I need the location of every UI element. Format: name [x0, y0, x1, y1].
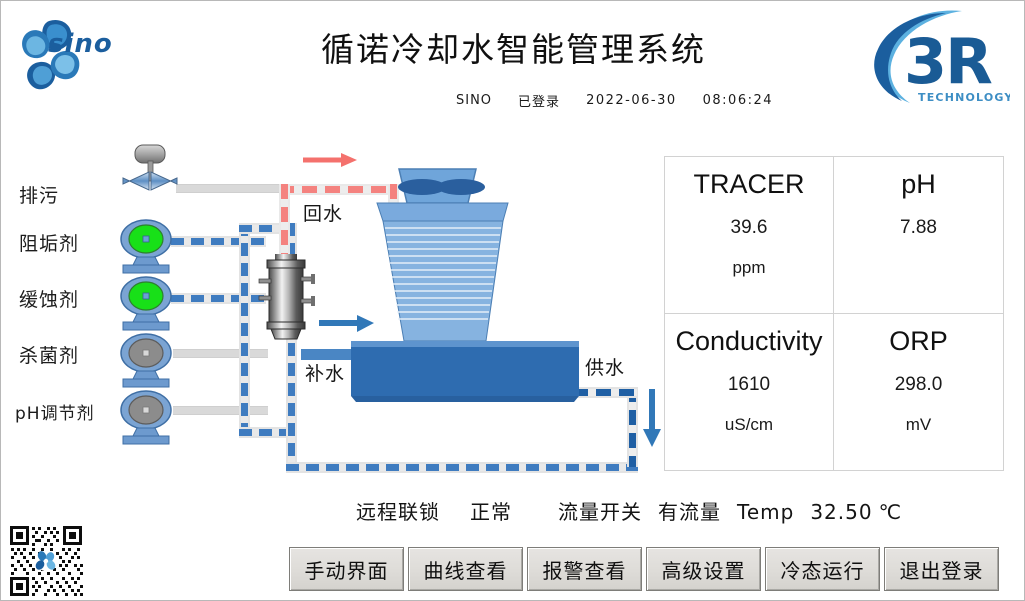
measurement-panel: TRACER 39.6 ppm pH 7.88 Conductivity 161…	[664, 156, 1004, 471]
supply-flow-arrow-icon	[641, 389, 663, 449]
button-bar: 手动界面 曲线查看 报警查看 高级设置 冷态运行 退出登录	[289, 547, 999, 591]
status-row: 远程联锁 正常 流量开关 有流量 Temp 32.50 ℃	[356, 496, 902, 525]
measure-cell-orp[interactable]: ORP 298.0 mV	[834, 314, 1003, 471]
measure-cell-tracer[interactable]: TRACER 39.6 ppm	[665, 157, 834, 314]
measure-value: 7.88	[900, 217, 937, 239]
pipe-recirc-left-riser	[239, 223, 250, 438]
session-user: SINO	[456, 93, 492, 108]
remote-interlock-value: 正常	[470, 496, 512, 525]
blowdown-valve-icon[interactable]	[119, 141, 183, 203]
label-biocide: 杀菌剂	[19, 341, 129, 368]
pipe-antiscalant-dose	[171, 236, 266, 247]
measure-unit: ppm	[732, 258, 765, 278]
session-login-status: 已登录	[518, 91, 560, 110]
measure-name: ORP	[889, 326, 948, 357]
corrosion-inhibitor-pump[interactable]	[115, 276, 177, 332]
pipe-blowdown	[176, 184, 296, 193]
label-blowdown: 排污	[19, 181, 129, 208]
pipe-biocide-dose	[173, 349, 268, 358]
measure-value: 298.0	[895, 374, 943, 396]
pipe-loop-bottom	[286, 462, 638, 473]
cooling-tower	[331, 166, 631, 426]
measure-value: 39.6	[731, 217, 768, 239]
measure-name: pH	[901, 169, 936, 200]
svg-text:3R: 3R	[904, 25, 992, 98]
remote-interlock-label: 远程联锁	[356, 496, 440, 525]
biocide-pump[interactable]	[115, 333, 177, 389]
flow-switch-value: 有流量	[658, 496, 721, 525]
label-antiscalant: 阻垢剂	[19, 229, 129, 256]
measure-cell-conductivity[interactable]: Conductivity 1610 uS/cm	[665, 314, 834, 471]
button-cold-start-run[interactable]: 冷态运行	[765, 547, 880, 591]
button-alarm-view[interactable]: 报警查看	[527, 547, 642, 591]
hmi-screen: sino 循诺冷却水智能管理系统 SINO 已登录 2022-06-30 08:…	[0, 0, 1025, 601]
pipe-corrosion-dose	[171, 293, 266, 304]
session-bar: SINO 已登录 2022-06-30 08:06:24	[456, 91, 773, 110]
temp-value: 32.50	[810, 500, 872, 524]
measure-unit: mV	[906, 415, 932, 435]
button-trend-view[interactable]: 曲线查看	[408, 547, 523, 591]
antiscalant-pump[interactable]	[115, 219, 177, 275]
pipe-ph-dose	[173, 406, 268, 415]
temp-label: Temp	[737, 500, 794, 524]
label-corrosion-inhibitor: 缓蚀剂	[19, 285, 129, 312]
flow-switch-label: 流量开关	[558, 496, 642, 525]
session-time: 08:06:24	[703, 93, 773, 108]
session-date: 2022-06-30	[586, 93, 677, 108]
qr-code[interactable]	[7, 523, 85, 599]
measure-cell-ph[interactable]: pH 7.88	[834, 157, 1003, 314]
3r-technology-logo: 3R TECHNOLOGY	[858, 5, 1010, 113]
button-advanced-settings[interactable]: 高级设置	[646, 547, 761, 591]
side-stream-filter	[257, 251, 325, 343]
measure-name: Conductivity	[675, 326, 822, 357]
ph-adjuster-pump[interactable]	[115, 390, 177, 446]
measure-unit: uS/cm	[725, 415, 773, 435]
label-ph-adjuster: pH调节剂	[15, 399, 125, 424]
temp-unit: ℃	[879, 500, 902, 524]
measure-value: 1610	[728, 374, 770, 396]
button-manual-interface[interactable]: 手动界面	[289, 547, 404, 591]
svg-text:TECHNOLOGY: TECHNOLOGY	[918, 91, 1010, 104]
button-logout[interactable]: 退出登录	[884, 547, 999, 591]
measure-name: TRACER	[693, 169, 804, 200]
